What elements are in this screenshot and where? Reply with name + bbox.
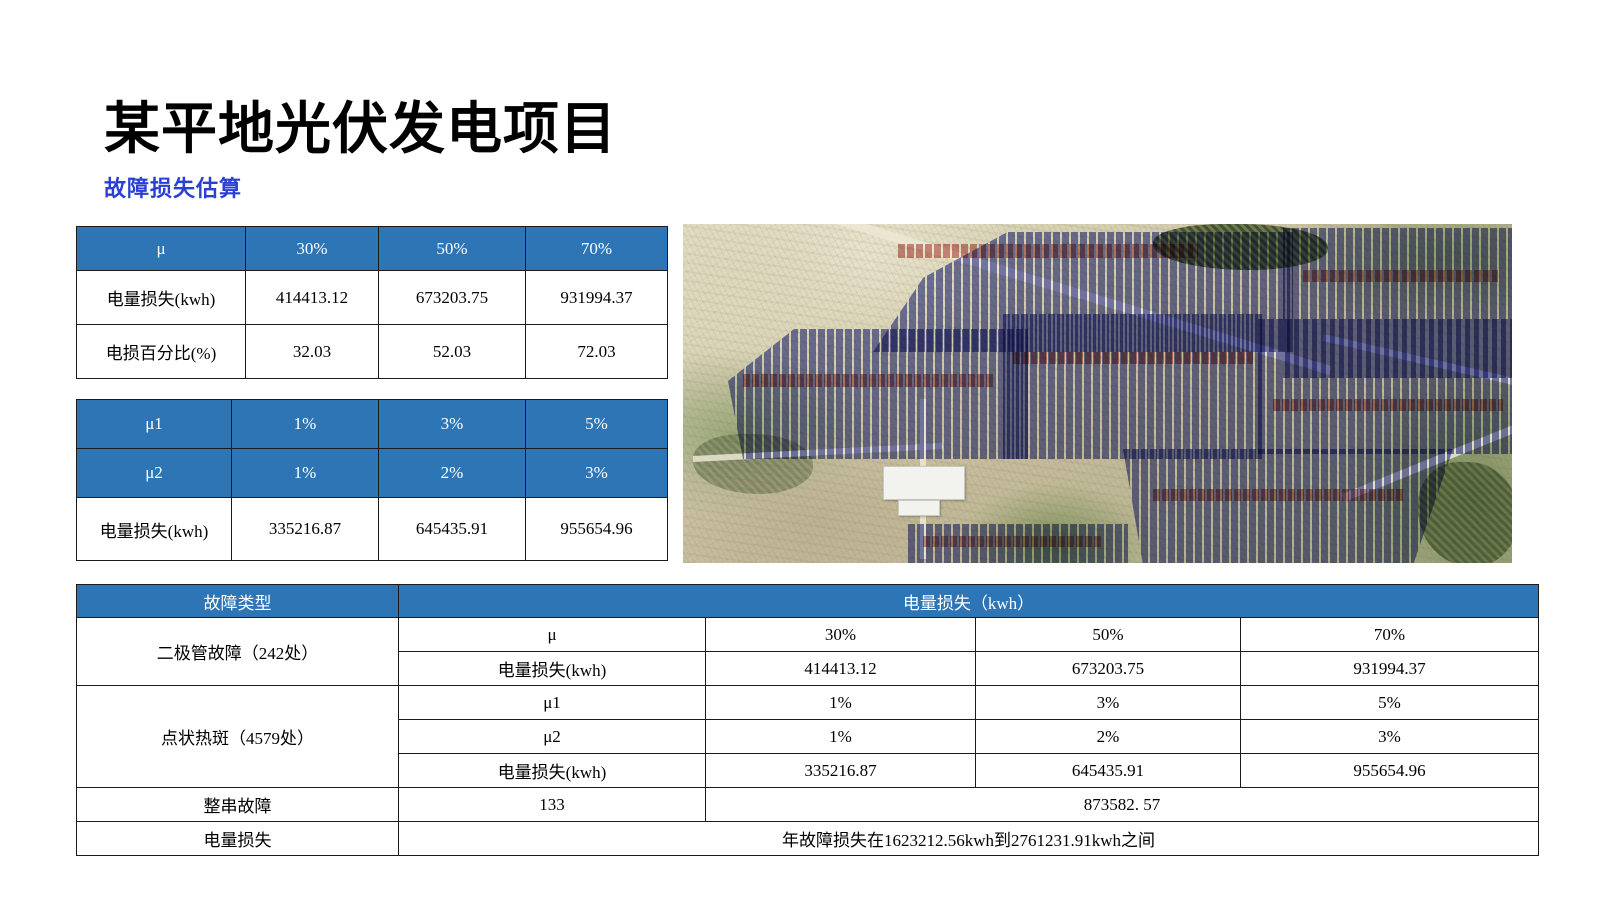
hotspot-mu1-label: μ1 bbox=[399, 686, 706, 720]
mu2-header-label: μ2 bbox=[77, 449, 232, 498]
hotspot-mu2-v1: 1% bbox=[706, 720, 976, 754]
mu-header-70: 70% bbox=[526, 227, 668, 271]
table-row: 电损百分比(%) 32.03 52.03 72.03 bbox=[77, 325, 668, 379]
panel-field-central bbox=[1003, 314, 1263, 459]
fault-header-type: 故障类型 bbox=[77, 585, 399, 618]
hotspot-mu2-v2: 2% bbox=[976, 720, 1241, 754]
table-row: 点状热斑（4579处） μ1 1% 3% 5% bbox=[77, 686, 1539, 720]
page-title: 某平地光伏发电项目 bbox=[104, 100, 1004, 159]
aerial-photo-solar-plant bbox=[683, 224, 1512, 563]
table-row: 整串故障 133 873582. 57 bbox=[77, 788, 1539, 822]
fault-type-diode: 二极管故障（242处） bbox=[77, 618, 399, 686]
table-row: 电量损失 年故障损失在1623212.56kwh到2761231.91kwh之间 bbox=[77, 822, 1539, 856]
fault-markers-central bbox=[1013, 352, 1253, 364]
hotspot-mu2-v3: 3% bbox=[1241, 720, 1539, 754]
table-row: 故障类型 电量损失（kwh） bbox=[77, 585, 1539, 618]
fault-markers-west bbox=[743, 374, 993, 387]
fault-markers-north bbox=[898, 244, 1198, 258]
mu-row-loss-label: 电量损失(kwh) bbox=[77, 271, 246, 325]
mu12-loss-v3: 955654.96 bbox=[526, 498, 668, 561]
hotspot-mu1-v1: 1% bbox=[706, 686, 976, 720]
mu-row-loss-v3: 931994.37 bbox=[526, 271, 668, 325]
mu-row-pct-v3: 72.03 bbox=[526, 325, 668, 379]
fault-total-label: 电量损失 bbox=[77, 822, 399, 856]
substation-annex bbox=[898, 500, 940, 516]
table-row: μ1 1% 3% 5% bbox=[77, 400, 668, 449]
fault-type-hotspot: 点状热斑（4579处） bbox=[77, 686, 399, 788]
fault-markers-south bbox=[923, 536, 1103, 547]
diode-mu-v1: 30% bbox=[706, 618, 976, 652]
mu-row-pct-label: 电损百分比(%) bbox=[77, 325, 246, 379]
hotspot-mu1-v3: 5% bbox=[1241, 686, 1539, 720]
string-fault-value: 873582. 57 bbox=[706, 788, 1539, 822]
hotspot-mu2-label: μ2 bbox=[399, 720, 706, 754]
hotspot-loss-label: 电量损失(kwh) bbox=[399, 754, 706, 788]
mu2-header-v2: 2% bbox=[379, 449, 526, 498]
title-block: 某平地光伏发电项目 故障损失估算 bbox=[104, 100, 1004, 203]
mu-row-loss-v2: 673203.75 bbox=[379, 271, 526, 325]
substation-building bbox=[883, 466, 965, 500]
mu12-loss-v2: 645435.91 bbox=[379, 498, 526, 561]
page-subtitle: 故障损失估算 bbox=[104, 171, 1004, 203]
mu12-loss-v1: 335216.87 bbox=[232, 498, 379, 561]
fault-markers-east bbox=[1273, 399, 1503, 411]
hotspot-loss-v3: 955654.96 bbox=[1241, 754, 1539, 788]
table-row: μ2 1% 2% 3% bbox=[77, 449, 668, 498]
diode-loss-label: 电量损失(kwh) bbox=[399, 652, 706, 686]
table-row: 二极管故障（242处） μ 30% 50% 70% bbox=[77, 618, 1539, 652]
fault-header-loss: 电量损失（kwh） bbox=[399, 585, 1539, 618]
mu-header-label: μ bbox=[77, 227, 246, 271]
fault-markers-southeast bbox=[1153, 489, 1403, 501]
string-fault-count: 133 bbox=[399, 788, 706, 822]
mu12-loss-label: 电量损失(kwh) bbox=[77, 498, 232, 561]
table-row: 电量损失(kwh) 414413.12 673203.75 931994.37 bbox=[77, 271, 668, 325]
table-mu12: μ1 1% 3% 5% μ2 1% 2% 3% 电量损失(kwh) 335216… bbox=[76, 399, 668, 561]
table-row: μ 30% 50% 70% bbox=[77, 227, 668, 271]
diode-mu-v2: 50% bbox=[976, 618, 1241, 652]
mu-row-pct-v2: 52.03 bbox=[379, 325, 526, 379]
panel-field-southeast bbox=[1123, 449, 1453, 563]
mu1-header-v2: 3% bbox=[379, 400, 526, 449]
hotspot-mu1-v2: 3% bbox=[976, 686, 1241, 720]
mu-row-pct-v1: 32.03 bbox=[246, 325, 379, 379]
diode-loss-v2: 673203.75 bbox=[976, 652, 1241, 686]
mu1-header-v3: 5% bbox=[526, 400, 668, 449]
table-row: 电量损失(kwh) 335216.87 645435.91 955654.96 bbox=[77, 498, 668, 561]
mu1-header-v1: 1% bbox=[232, 400, 379, 449]
hotspot-loss-v2: 645435.91 bbox=[976, 754, 1241, 788]
diode-loss-v3: 931994.37 bbox=[1241, 652, 1539, 686]
mu-row-loss-v1: 414413.12 bbox=[246, 271, 379, 325]
mu2-header-v1: 1% bbox=[232, 449, 379, 498]
diode-mu-v3: 70% bbox=[1241, 618, 1539, 652]
table-fault-summary: 故障类型 电量损失（kwh） 二极管故障（242处） μ 30% 50% 70%… bbox=[76, 584, 1539, 856]
fault-total-summary: 年故障损失在1623212.56kwh到2761231.91kwh之间 bbox=[399, 822, 1539, 856]
diode-mu-label: μ bbox=[399, 618, 706, 652]
panel-field-central-west bbox=[728, 329, 1028, 459]
diode-loss-v1: 414413.12 bbox=[706, 652, 976, 686]
mu-header-30: 30% bbox=[246, 227, 379, 271]
mu2-header-v3: 3% bbox=[526, 449, 668, 498]
mu-header-50: 50% bbox=[379, 227, 526, 271]
mu1-header-label: μ1 bbox=[77, 400, 232, 449]
fault-markers-northeast bbox=[1303, 270, 1498, 282]
panel-field-east bbox=[1258, 319, 1512, 454]
table-mu: μ 30% 50% 70% 电量损失(kwh) 414413.12 673203… bbox=[76, 226, 668, 379]
fault-type-string: 整串故障 bbox=[77, 788, 399, 822]
hotspot-loss-v1: 335216.87 bbox=[706, 754, 976, 788]
